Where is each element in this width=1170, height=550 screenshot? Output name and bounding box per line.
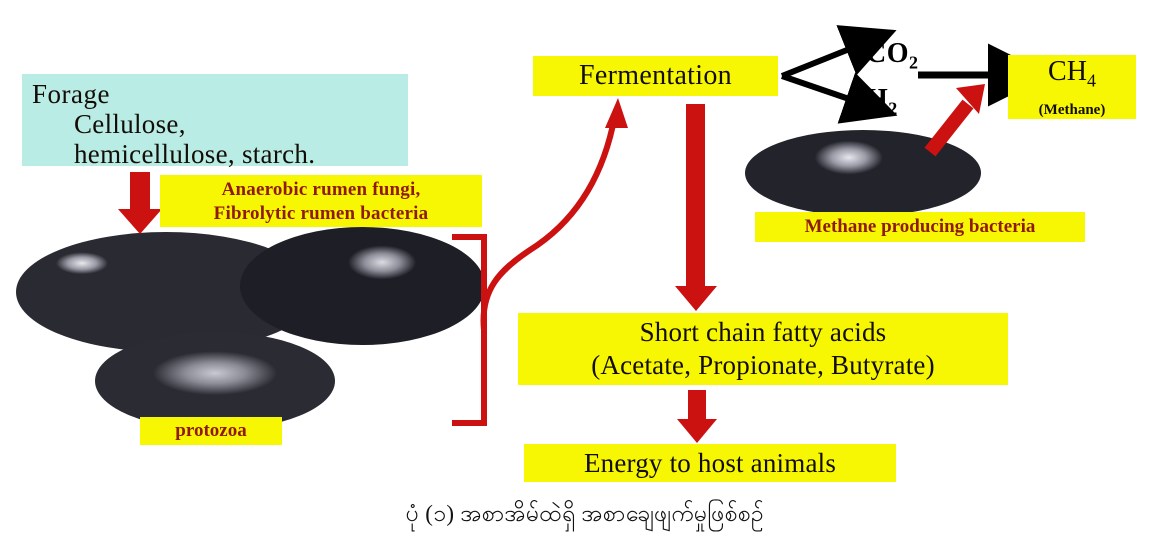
protozoa-label-text: protozoa <box>140 417 282 445</box>
energy-to-host-node: Energy to host animals <box>524 444 896 482</box>
ch4-subscript: 4 <box>1087 71 1096 91</box>
figure-caption: ပုံ (၁) အစာအိမ်ထဲရှိ အစာချေဖျက်မှုဖြစ်စဉ… <box>0 497 1170 531</box>
methane-producing-bacteria-label: Methane producing bacteria <box>755 212 1085 242</box>
ch4-formula: CH <box>1048 56 1087 87</box>
diagram-canvas: Forage Cellulose, hemicellulose, starch.… <box>0 0 1170 550</box>
fermentation-label: Fermentation <box>579 60 732 91</box>
energy-label: Energy to host animals <box>584 448 836 478</box>
arrow-fermentation-to-scfa <box>675 104 717 311</box>
protozoa-label: protozoa <box>140 417 282 445</box>
scfa-line2: (Acetate, Propionate, Butyrate) <box>518 349 1008 382</box>
protozoa-micrograph <box>95 332 335 430</box>
arrow-fermentation-to-h2 <box>782 76 852 100</box>
arrow-scfa-to-energy <box>677 390 717 443</box>
arrow-fermentation-to-co2 <box>782 48 852 76</box>
methanogen-label-text: Methane producing bacteria <box>755 212 1085 242</box>
co2-label: CO2 <box>866 38 919 74</box>
ch4-formula-row: CH4 <box>1008 55 1136 98</box>
fungi-label-line1: Anaerobic rumen fungi, <box>160 178 482 202</box>
arrow-microbes-to-fermentation <box>483 98 628 330</box>
methanogen-micrograph <box>745 130 981 216</box>
co2-formula: CO <box>866 38 909 69</box>
forage-line-cellulose: Cellulose, <box>32 109 408 139</box>
forage-line-hemicellulose: hemicellulose, starch. <box>32 139 408 169</box>
short-chain-fatty-acids-node: Short chain fatty acids (Acetate, Propio… <box>518 313 1008 385</box>
anaerobic-fungi-label: Anaerobic rumen fungi, Fibrolytic rumen … <box>160 175 482 227</box>
fermentation-node: Fermentation <box>533 56 778 96</box>
h2-label: H2 <box>866 84 898 120</box>
forage-box: Forage Cellulose, hemicellulose, starch. <box>22 74 408 166</box>
rumen-fungi-micrograph <box>240 227 485 345</box>
h2-subscript: 2 <box>888 99 898 119</box>
forage-title: Forage <box>32 80 408 109</box>
methane-name: (Methane) <box>1008 98 1136 122</box>
methane-node: CH4 (Methane) <box>1008 55 1136 119</box>
co2-subscript: 2 <box>909 53 919 73</box>
arrow-forage-to-microbes <box>118 172 162 234</box>
fungi-label-line2: Fibrolytic rumen bacteria <box>160 202 482 226</box>
scfa-line1: Short chain fatty acids <box>518 316 1008 349</box>
h2-formula: H <box>866 84 888 115</box>
